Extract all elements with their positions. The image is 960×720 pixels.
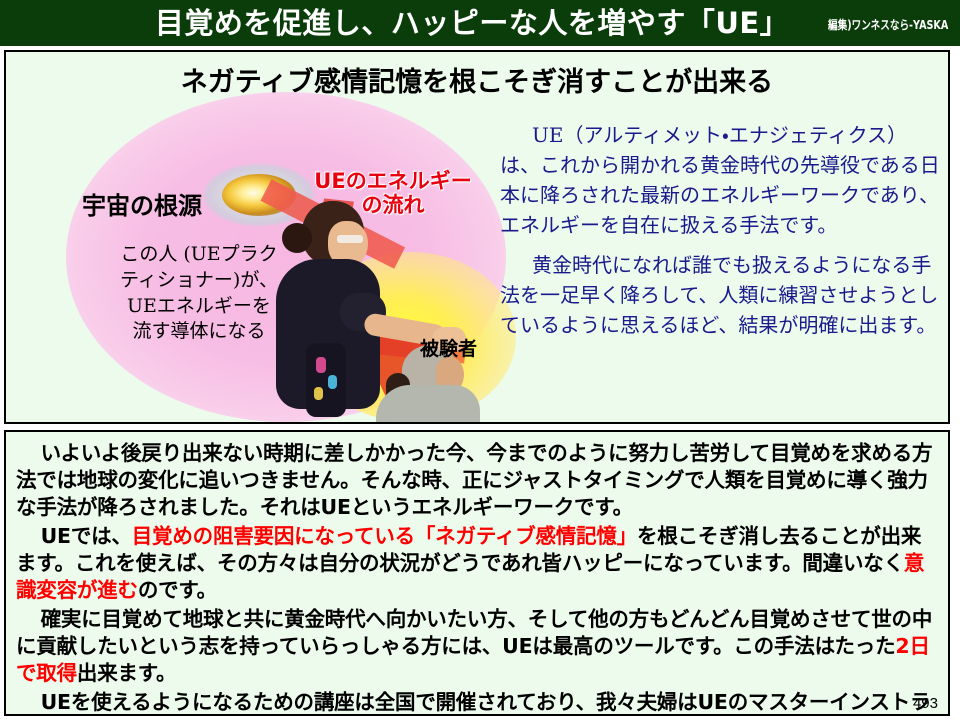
description-block: UE（アルティメット・エナジェティクス）は、これから開かれる黄金時代の先導役であ… (500, 120, 944, 350)
body-text-segment: UEを使えるようになるための講座は全国で開催されており、我々夫婦はUEのマスター… (16, 690, 930, 716)
upper-panel: ネガティブ感情記憶を根こそぎ消すことが出来る (4, 50, 950, 424)
label-practitioner: この人 (UEプラク ティショナー)が、 UEエネルギーを 流す導体になる (84, 242, 314, 345)
label-practitioner-line1: この人 (UEプラク (84, 242, 314, 268)
label-practitioner-line3: UEエネルギーを (84, 294, 314, 320)
label-subject: 被験者 (420, 334, 477, 361)
body-paragraph-3: 確実に目覚めて地球と共に黄金時代へ向かいたい方、そして他の方もどんどん目覚めさせ… (16, 606, 938, 687)
lower-panel: いよいよ後戻り出来ない時期に差しかかった今、今までのように努力し苦労して目覚めを… (4, 430, 950, 716)
title-bar: 目覚めを促進し、ハッピーな人を増やす「UE」 編集)ワンネスなら-YASKA (0, 0, 960, 46)
body-text-segment: いよいよ後戻り出来ない時期に差しかかった今、今までのように努力し苦労して目覚めを… (16, 441, 932, 519)
body-text: いよいよ後戻り出来ない時期に差しかかった今、今までのように努力し苦労して目覚めを… (16, 440, 938, 716)
page-title: 目覚めを促進し、ハッピーな人を増やす「UE」 (155, 9, 789, 38)
label-energy-flow-line2: の流れ (288, 194, 498, 218)
body-text-segment: のです。 (138, 578, 217, 602)
label-cosmic-source: 宇宙の根源 (82, 186, 202, 221)
apron-pattern-2 (328, 375, 337, 389)
highlighted-text: 目覚めの阻害要因になっている「ネガティブ感情記憶」 (132, 524, 637, 548)
body-text-segment: UEでは、 (41, 524, 132, 548)
body-paragraph-1: いよいよ後戻り出来ない時期に差しかかった今、今までのように努力し苦労して目覚めを… (16, 440, 938, 521)
practitioner-glasses (337, 235, 363, 243)
label-energy-flow: UEのエネルギー の流れ (288, 170, 498, 217)
body-text-segment: 確実に目覚めて地球と共に黄金時代へ向かいたい方、そして他の方もどんどん目覚めさせ… (16, 607, 932, 658)
label-practitioner-line2: ティショナー)が、 (84, 268, 314, 294)
practitioner-apron (306, 343, 346, 417)
label-practitioner-line4: 流す導体になる (84, 319, 314, 345)
apron-pattern-3 (314, 387, 323, 400)
page-number: 493 (913, 695, 938, 712)
body-text-segment: 出来ます。 (77, 661, 176, 685)
apron-pattern-1 (316, 357, 326, 373)
subtitle-heading: ネガティブ感情記憶を根こそぎ消すことが出来る (6, 60, 948, 99)
body-paragraph-2: UEでは、目覚めの阻害要因になっている「ネガティブ感情記憶」を根こそぎ消し去るこ… (16, 523, 938, 604)
body-paragraph-4: UEを使えるようになるための講座は全国で開催されており、我々夫婦はUEのマスター… (16, 689, 938, 716)
slide: 目覚めを促進し、ハッピーな人を増やす「UE」 編集)ワンネスなら-YASKA ネ… (0, 0, 960, 720)
description-paragraph-1: UE（アルティメット・エナジェティクス）は、これから開かれる黄金時代の先導役であ… (500, 120, 944, 240)
editor-credit: 編集)ワンネスなら-YASKA (828, 16, 948, 33)
subject-body (376, 385, 480, 424)
label-energy-flow-line1: UEのエネルギー (288, 170, 498, 194)
description-paragraph-2: 黄金時代になれば誰でも扱えるようになる手法を一足早く降ろして、人類に練習させよう… (500, 250, 944, 340)
